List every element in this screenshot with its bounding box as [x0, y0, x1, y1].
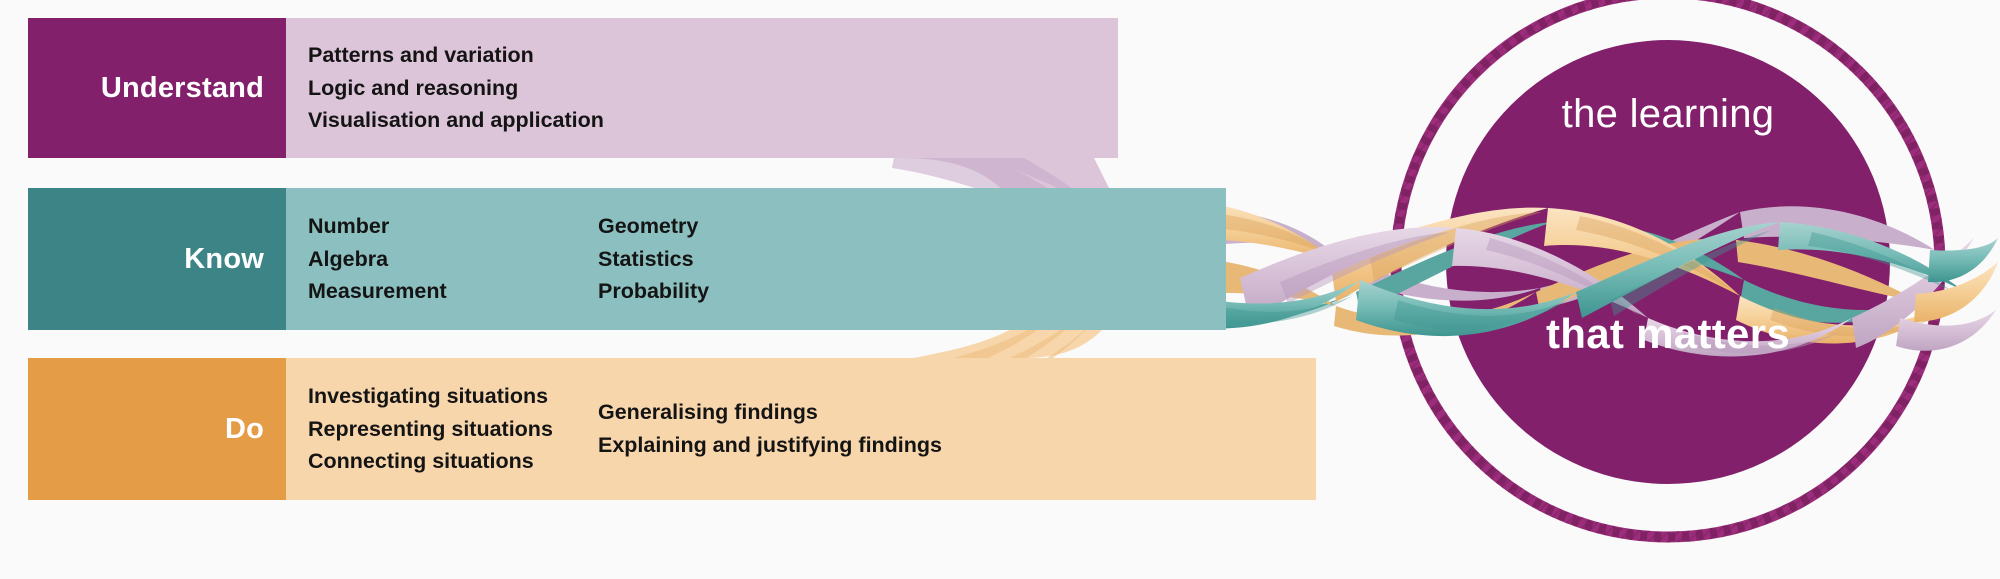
row-know: Know Number Algebra Measurement Geometry… — [28, 188, 1226, 330]
list-item: Connecting situations — [308, 445, 598, 478]
row-know-label: Know — [28, 188, 286, 330]
row-do-column-2: Generalising findings Explaining and jus… — [598, 396, 942, 461]
row-do-column-1: Investigating situations Representing si… — [308, 380, 598, 478]
list-item: Measurement — [308, 275, 598, 308]
row-understand-label: Understand — [28, 18, 286, 158]
row-understand-body: Patterns and variation Logic and reasoni… — [286, 18, 1118, 158]
row-know-column-1: Number Algebra Measurement — [308, 210, 598, 308]
row-do: Do Investigating situations Representing… — [28, 358, 1316, 500]
list-item: Generalising findings — [598, 396, 942, 429]
list-item: Algebra — [308, 243, 598, 276]
list-item: Explaining and justifying findings — [598, 429, 942, 462]
list-item: Statistics — [598, 243, 709, 276]
list-item: Representing situations — [308, 413, 598, 446]
logo-line-two: that matters — [1458, 310, 1878, 358]
list-item: Logic and reasoning — [308, 72, 604, 105]
logo-line-one: the learning — [1458, 92, 1878, 137]
list-item: Probability — [598, 275, 709, 308]
row-know-body: Number Algebra Measurement Geometry Stat… — [286, 188, 1226, 330]
logo-rope-ring — [1396, 0, 1940, 537]
list-item: Number — [308, 210, 598, 243]
list-item: Investigating situations — [308, 380, 598, 413]
row-understand-column-1: Patterns and variation Logic and reasoni… — [308, 39, 604, 137]
list-item: Geometry — [598, 210, 709, 243]
row-know-column-2: Geometry Statistics Probability — [598, 210, 709, 308]
list-item: Visualisation and application — [308, 104, 604, 137]
diagram-canvas: the learning that matters Understand Pat… — [0, 0, 2000, 579]
braid-tips — [1896, 238, 1998, 351]
row-understand: Understand Patterns and variation Logic … — [28, 18, 1118, 158]
list-item: Patterns and variation — [308, 39, 604, 72]
row-do-label: Do — [28, 358, 286, 500]
row-do-body: Investigating situations Representing si… — [286, 358, 1316, 500]
